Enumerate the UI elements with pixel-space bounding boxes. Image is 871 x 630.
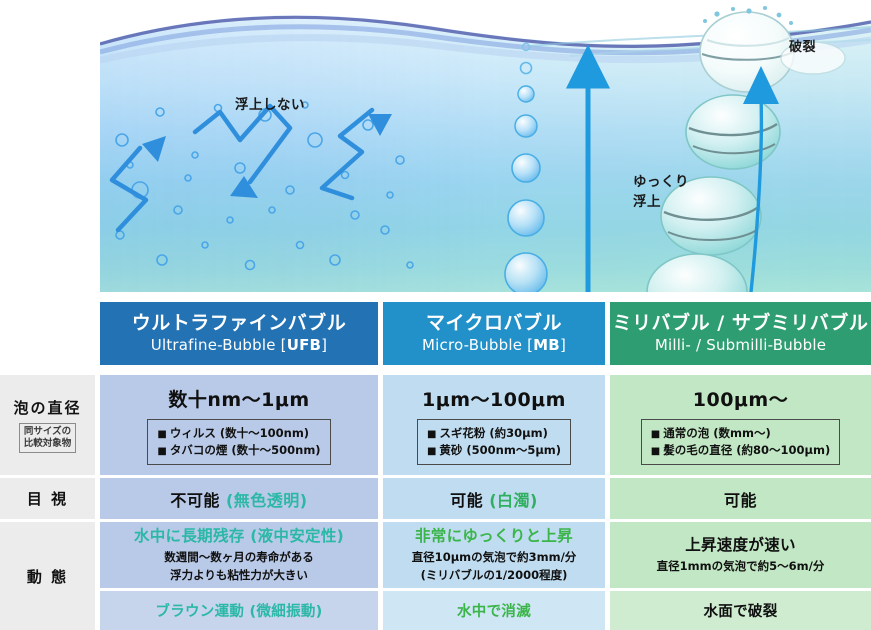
microbubbles-column-icon	[450, 18, 630, 292]
visibility-mb-main: 可能	[450, 491, 489, 510]
visibility-ufb-main: 不可能	[170, 491, 226, 510]
visibility-milli-main: 可能	[724, 491, 757, 510]
label-slow-rise: ゆっくり 浮上	[633, 173, 689, 212]
cell-visibility-milli: 可能	[610, 478, 871, 519]
dynamics-ufb-sub: 数週間〜数ヶ月の寿命がある 浮力よりも粘性力が大きい	[164, 549, 314, 585]
row-label-dynamics: 動 態	[0, 522, 95, 630]
dynamics-sub-line: 直径10μmの気泡で約3mm/分	[412, 549, 577, 567]
dynamics-milli-sub: 直径1mmの気泡で約5〜6m/分	[657, 558, 825, 576]
example-text: 髪の毛の直径 (約80〜100μm)	[663, 443, 830, 457]
dynamics-sub-line: 直径1mmの気泡で約5〜6m/分	[657, 558, 825, 576]
dynamics-last-milli: 水面で破裂	[704, 600, 778, 621]
cell-dynamics-milli: 上昇速度が速い 直径1mmの気泡で約5〜6m/分	[610, 522, 871, 588]
header-mb-en: Micro-Bubble [MB]	[422, 336, 566, 354]
row-label-diameter-note: 同サイズの 比較対象物	[19, 423, 77, 453]
dynamics-last-mb: 水中で消滅	[457, 600, 531, 621]
header-mb: マイクロバブル Micro-Bubble [MB]	[383, 302, 605, 365]
dynamics-mb-head: 非常にゆっくりと上昇	[415, 526, 573, 546]
dynamics-last-ufb: ブラウン運動 (微細振動)	[155, 600, 322, 621]
header-milli-jp: ミリバブル / サブミリバブル	[613, 313, 869, 335]
example-item: ■髪の毛の直径 (約80〜100μm)	[651, 442, 830, 459]
square-bullet-icon: ■	[651, 446, 660, 457]
header-milli: ミリバブル / サブミリバブル Milli- / Submilli-Bubble	[610, 302, 871, 365]
cell-dynamics-mb: 非常にゆっくりと上昇 直径10μmの気泡で約3mm/分 (ミリバブルの1/200…	[383, 522, 605, 588]
dynamics-sub-line: 数週間〜数ヶ月の寿命がある	[164, 549, 314, 567]
example-text: ウィルス (数十〜100nm)	[170, 426, 309, 440]
visibility-mb-paren: (白濁)	[489, 491, 538, 510]
row-label-visibility: 目 視	[0, 478, 95, 519]
dynamics-sub-line: (ミリバブルの1/2000程度)	[412, 567, 577, 585]
label-no-rise: 浮上しない	[235, 96, 305, 116]
header-ufb-en-bold: UFB	[287, 336, 321, 354]
cell-visibility-mb: 可能 (白濁)	[383, 478, 605, 519]
example-item: ■スギ花粉 (約30μm)	[427, 425, 561, 442]
example-item: ■黄砂 (500nm〜5μm)	[427, 442, 561, 459]
visibility-ufb: 不可能 (無色透明)	[170, 487, 307, 511]
diameter-mb-value: 1μm〜100μm	[422, 385, 566, 412]
note-line-1: 同サイズの	[24, 426, 72, 438]
header-ufb: ウルトラファインバブル Ultrafine-Bubble [UFB]	[100, 302, 378, 365]
row-label-dynamics-title: 動 態	[27, 566, 68, 587]
cell-dynamics-last-ufb: ブラウン運動 (微細振動)	[100, 591, 378, 630]
example-text: スギ花粉 (約30μm)	[439, 426, 547, 440]
visibility-milli: 可能	[724, 487, 757, 511]
example-item: ■タバコの煙 (数十〜500nm)	[157, 442, 320, 459]
header-ufb-en-post: ]	[321, 336, 327, 354]
square-bullet-icon: ■	[157, 429, 166, 440]
dynamics-milli-head: 上昇速度が速い	[685, 535, 796, 555]
header-ufb-jp: ウルトラファインバブル	[132, 313, 347, 335]
header-milli-en: Milli- / Submilli-Bubble	[655, 336, 826, 354]
visibility-mb: 可能 (白濁)	[450, 487, 538, 511]
header-mb-jp: マイクロバブル	[426, 313, 562, 335]
example-text: 黄砂 (500nm〜5μm)	[439, 443, 561, 457]
header-milli-en-pre: Milli- / Submilli-Bubble	[655, 336, 826, 354]
row-label-diameter: 泡の直径 同サイズの 比較対象物	[0, 375, 95, 475]
label-slow-rise-line1: ゆっくり	[633, 174, 689, 190]
square-bullet-icon: ■	[651, 429, 660, 440]
cell-visibility-ufb: 不可能 (無色透明)	[100, 478, 378, 519]
dynamics-mb-sub: 直径10μmの気泡で約3mm/分 (ミリバブルの1/2000程度)	[412, 549, 577, 585]
cell-dynamics-last-mb: 水中で消滅	[383, 591, 605, 630]
diameter-ufb-value: 数十nm〜1μm	[168, 385, 309, 412]
visibility-ufb-paren: (無色透明)	[226, 491, 308, 510]
diameter-mb-examples: ■スギ花粉 (約30μm) ■黄砂 (500nm〜5μm)	[417, 419, 571, 466]
cell-diameter-ufb: 数十nm〜1μm ■ウィルス (数十〜100nm) ■タバコの煙 (数十〜500…	[100, 375, 378, 475]
square-bullet-icon: ■	[427, 429, 436, 440]
row-label-diameter-title: 泡の直径	[13, 397, 81, 418]
millibubbles-icon	[645, 4, 871, 292]
diameter-milli-examples: ■通常の泡 (数mm〜) ■髪の毛の直径 (約80〜100μm)	[641, 419, 840, 466]
example-text: 通常の泡 (数mm〜)	[663, 426, 770, 440]
cell-diameter-mb: 1μm〜100μm ■スギ花粉 (約30μm) ■黄砂 (500nm〜5μm)	[383, 375, 605, 475]
header-ufb-en: Ultrafine-Bubble [UFB]	[151, 336, 327, 354]
diameter-milli-value: 100μm〜	[693, 385, 788, 412]
bubble-illustration: 浮上しない ゆっくり 浮上 浮上 破裂	[100, 0, 871, 292]
square-bullet-icon: ■	[157, 446, 166, 457]
row-label-visibility-title: 目 視	[27, 488, 68, 509]
header-mb-en-pre: Micro-Bubble [	[422, 336, 533, 354]
label-burst: 破裂	[789, 39, 816, 58]
comparison-table: 泡の直径 同サイズの 比較対象物 目 視 動 態 ウルトラファインバブル Ult…	[0, 292, 871, 630]
example-item: ■通常の泡 (数mm〜)	[651, 425, 830, 442]
header-mb-en-post: ]	[560, 336, 566, 354]
infographic-root: 浮上しない ゆっくり 浮上 浮上 破裂 泡の直径 同サイズの 比較対象物 目 視…	[0, 0, 871, 630]
dynamics-sub-line: 浮力よりも粘性力が大きい	[164, 567, 314, 585]
example-text: タバコの煙 (数十〜500nm)	[170, 443, 321, 457]
example-item: ■ウィルス (数十〜100nm)	[157, 425, 320, 442]
header-ufb-en-pre: Ultrafine-Bubble [	[151, 336, 287, 354]
label-slow-rise-line2: 浮上	[633, 194, 661, 210]
note-line-2: 比較対象物	[24, 438, 72, 450]
dynamics-ufb-head: 水中に長期残存 (液中安定性)	[134, 526, 344, 546]
diameter-ufb-examples: ■ウィルス (数十〜100nm) ■タバコの煙 (数十〜500nm)	[147, 419, 330, 466]
cell-dynamics-last-milli: 水面で破裂	[610, 591, 871, 630]
square-bullet-icon: ■	[427, 446, 436, 457]
cell-diameter-milli: 100μm〜 ■通常の泡 (数mm〜) ■髪の毛の直径 (約80〜100μm)	[610, 375, 871, 475]
cell-dynamics-ufb: 水中に長期残存 (液中安定性) 数週間〜数ヶ月の寿命がある 浮力よりも粘性力が大…	[100, 522, 378, 588]
header-mb-en-bold: MB	[533, 336, 560, 354]
